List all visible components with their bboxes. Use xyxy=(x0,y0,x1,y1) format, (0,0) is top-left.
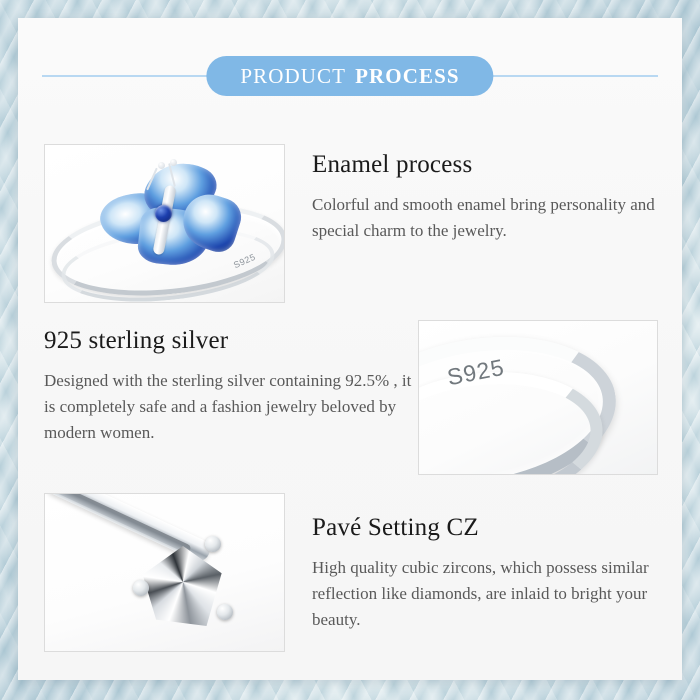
section-body: Designed with the sterling silver contai… xyxy=(44,368,414,445)
section-pave-cz: Pavé Setting CZ High quality cubic zirco… xyxy=(18,475,682,660)
section-body: High quality cubic zircons, which posses… xyxy=(312,555,667,632)
prong-bead-left xyxy=(133,580,149,596)
badge-label-secondary: PROCESS xyxy=(355,64,460,88)
section-heading: Enamel process xyxy=(312,150,662,180)
badge-label-primary: PRODUCT xyxy=(240,64,346,88)
header-banner: PRODUCTPROCESS xyxy=(18,56,682,96)
center-sapphire-gem xyxy=(155,205,172,222)
section-text-pave: Pavé Setting CZ High quality cubic zirco… xyxy=(312,513,667,632)
butterfly-motif xyxy=(93,161,243,273)
section-body: Colorful and smooth enamel bring persona… xyxy=(312,192,662,244)
section-heading: Pavé Setting CZ xyxy=(312,513,667,543)
photo-frame-butterfly-ring: S925 xyxy=(44,144,285,303)
prong-bead-top xyxy=(205,536,221,552)
section-heading: 925 sterling silver xyxy=(44,326,414,356)
prong-bead-bottom xyxy=(217,604,233,620)
photo-frame-cz-stone xyxy=(44,493,285,652)
photo-frame-silver-band: S925 xyxy=(418,320,658,475)
antenna-tip-right-icon xyxy=(170,159,177,166)
section-enamel-process: S925 Enamel process Colorful and smooth … xyxy=(18,126,682,301)
header-badge: PRODUCTPROCESS xyxy=(206,56,493,96)
content-card: PRODUCTPROCESS S925 xyxy=(18,18,682,680)
antenna-tip-left-icon xyxy=(158,162,165,169)
infographic-canvas: PRODUCTPROCESS S925 xyxy=(0,0,700,700)
section-text-sterling: 925 sterling silver Designed with the st… xyxy=(44,326,414,445)
section-sterling-silver: S925 925 sterling silver Designed with t… xyxy=(18,312,682,487)
section-text-enamel: Enamel process Colorful and smooth ename… xyxy=(312,150,662,244)
